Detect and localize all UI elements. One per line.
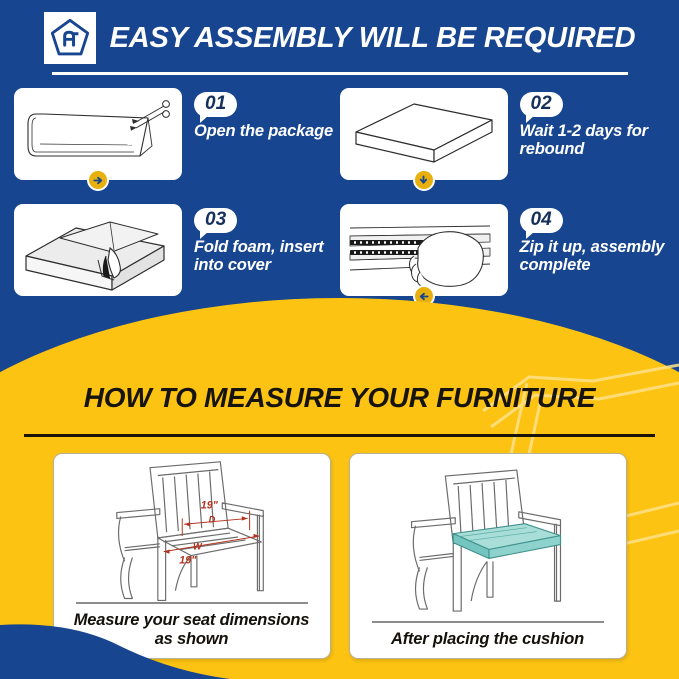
step-number-badge: 04 [520,208,563,233]
assembly-step-04: 04 Zip it up, assembly complete [340,204,666,312]
assembly-section: EASY ASSEMBLY WILL BE REQUIRED [0,0,679,396]
assembly-step-01: 01 Open the package [14,88,340,196]
arrow-down-icon [413,169,435,191]
foam-into-cover-icon [14,204,182,296]
depth-value: 19" [200,500,218,512]
width-value: 19" [179,554,197,566]
step-01-text: 01 Open the package [182,88,340,140]
step-number-badge: 02 [520,92,563,117]
arrow-right-icon [87,169,109,191]
measure-divider [24,434,655,437]
chair-with-dimensions-icon: 19" D W 19" [54,454,330,602]
assembly-step-03: 03 Fold foam, insert into cover [14,204,340,312]
infographic-page: EASY ASSEMBLY WILL BE REQUIRED [0,0,679,679]
step-number-badge: 01 [194,92,237,117]
assembly-steps-grid: 01 Open the package [0,88,679,312]
measure-section-title: HOW TO MEASURE YOUR FURNITURE [0,382,679,414]
step-label: Open the package [194,122,340,140]
assembly-step-02: 02 Wait 1-2 days for rebound [340,88,666,196]
header-divider [52,72,628,75]
panel-caption: After placing the cushion [350,623,626,658]
pentagon-house-logo-icon [44,12,96,64]
step-number-badge: 03 [194,208,237,233]
step-label: Zip it up, assembly complete [520,238,666,275]
assembly-title: EASY ASSEMBLY WILL BE REQUIRED [110,22,636,55]
measure-panel-cushion: After placing the cushion [349,453,627,659]
hand-zipping-cover-icon [340,204,508,296]
step-04-text: 04 Zip it up, assembly complete [508,204,666,275]
package-with-scissors-icon [14,88,182,180]
step-02-text: 02 Wait 1-2 days for rebound [508,88,666,159]
depth-letter: D [208,514,215,524]
flat-foam-slab-icon [340,88,508,180]
step-label: Fold foam, insert into cover [194,238,340,275]
step-label: Wait 1-2 days for rebound [520,122,666,159]
step-03-text: 03 Fold foam, insert into cover [182,204,340,275]
width-letter: W [192,542,202,552]
blue-corner-accent [0,615,230,679]
chair-with-cushion-icon [350,454,626,621]
assembly-header: EASY ASSEMBLY WILL BE REQUIRED [0,8,679,68]
